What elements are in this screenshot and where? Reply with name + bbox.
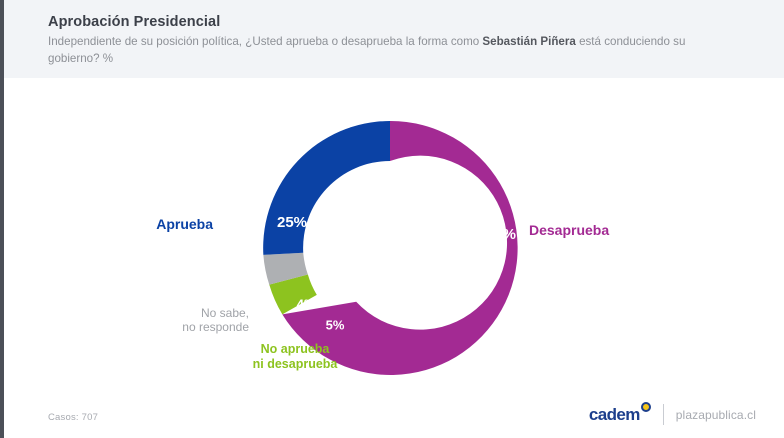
- label-aprueba: Aprueba: [156, 217, 213, 232]
- brand-name: cadem: [589, 405, 651, 424]
- slide-canvas: Aprobación Presidencial Independiente de…: [0, 0, 784, 438]
- page-subtitle: Independiente de su posición política, ¿…: [48, 34, 693, 67]
- donut-slices: [263, 121, 517, 375]
- subtitle-segment-1: Independiente de su posición política, ¿…: [48, 35, 482, 48]
- label-desaprueba: Desaprueba: [529, 223, 609, 238]
- brand-lockup: cadem plazapublica.cl: [589, 404, 756, 425]
- cadem-circle-icon: [641, 402, 651, 412]
- label-no-aprueba-ni-desaprueba: No aprueba ni desaprueba: [230, 342, 360, 372]
- value-aprueba: 25%: [277, 214, 307, 231]
- label-no-sabe-line-1: No sabe,: [182, 306, 249, 320]
- label-no-sabe-no-responde: No sabe, no responde: [182, 306, 249, 334]
- label-neutral-line-2: ni desaprueba: [230, 357, 360, 372]
- sample-size-note: Casos: 707: [48, 412, 98, 423]
- donut-chart-svg: 66% 25% 5% 4%: [4, 78, 784, 388]
- left-accent-rail: [0, 0, 4, 438]
- chart-area: 66% 25% 5% 4% Aprueba Desaprueba No sabe…: [4, 78, 784, 388]
- header-text-block: Aprobación Presidencial Independiente de…: [48, 13, 748, 67]
- brand-divider: [663, 404, 664, 425]
- value-desaprueba: 66%: [486, 226, 516, 243]
- donut-chart: 66% 25% 5% 4% Aprueba Desaprueba No sabe…: [4, 78, 784, 388]
- brand-website: plazapublica.cl: [676, 408, 756, 422]
- brand-name-text: cadem: [589, 405, 640, 424]
- page-title: Aprobación Presidencial: [48, 13, 748, 31]
- subtitle-highlight-name: Sebastián Piñera: [482, 35, 575, 48]
- label-neutral-line-1: No aprueba: [230, 342, 360, 357]
- value-no-aprueba-ni-desaprueba: 5%: [326, 317, 345, 332]
- label-no-sabe-line-2: no responde: [182, 320, 249, 334]
- footer: Casos: 707 cadem plazapublica.cl: [4, 388, 784, 438]
- slice-aprueba[interactable]: [263, 121, 390, 255]
- value-no-sabe-no-responde: 4%: [297, 296, 316, 311]
- header-band: Aprobación Presidencial Independiente de…: [4, 0, 784, 78]
